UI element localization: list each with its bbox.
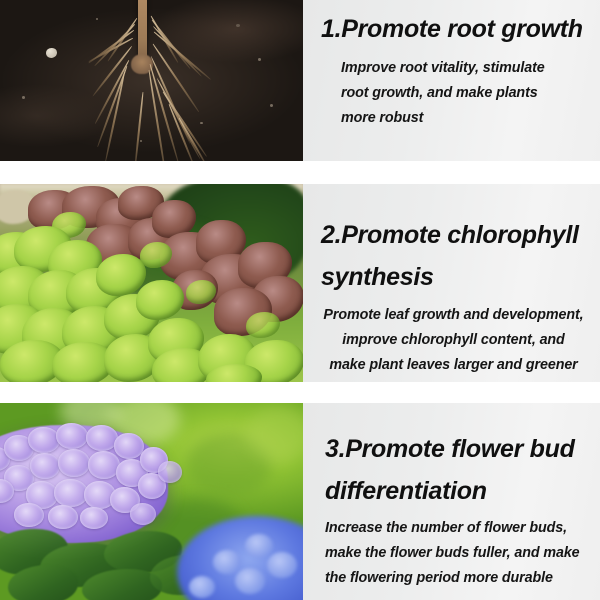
benefit-text-1: 1.Promote root growth Improve root vital… <box>303 0 600 161</box>
benefit-heading-2: 2.Promote chlorophyll synthesis <box>321 214 591 298</box>
hydrangea-photo <box>0 403 303 600</box>
benefit-body-1: Improve root vitality, stimulate root gr… <box>341 56 545 131</box>
benefit-text-2: 2.Promote chlorophyll synthesis Promote … <box>303 184 600 382</box>
root-system-photo-art <box>0 0 303 161</box>
benefit-heading-1: 1.Promote root growth <box>321 8 583 50</box>
benefit-heading-3: 3.Promote flower bud differentiation <box>325 428 593 512</box>
root-system-photo <box>0 0 303 161</box>
benefit-text-3: 3.Promote flower bud differentiation Inc… <box>303 403 600 600</box>
benefit-body-2: Promote leaf growth and development, imp… <box>311 303 596 378</box>
lettuce-bed-photo <box>0 184 303 382</box>
hydrangea-photo-art <box>0 403 303 600</box>
benefit-panel-1: 1.Promote root growth Improve root vital… <box>0 0 600 161</box>
benefit-body-3: Increase the number of flower buds, make… <box>325 516 580 591</box>
benefit-panel-3: 3.Promote flower bud differentiation Inc… <box>0 403 600 600</box>
lettuce-bed-photo-art <box>0 184 303 382</box>
product-benefits-infographic: 1.Promote root growth Improve root vital… <box>0 0 600 600</box>
benefit-panel-2: 2.Promote chlorophyll synthesis Promote … <box>0 184 600 382</box>
